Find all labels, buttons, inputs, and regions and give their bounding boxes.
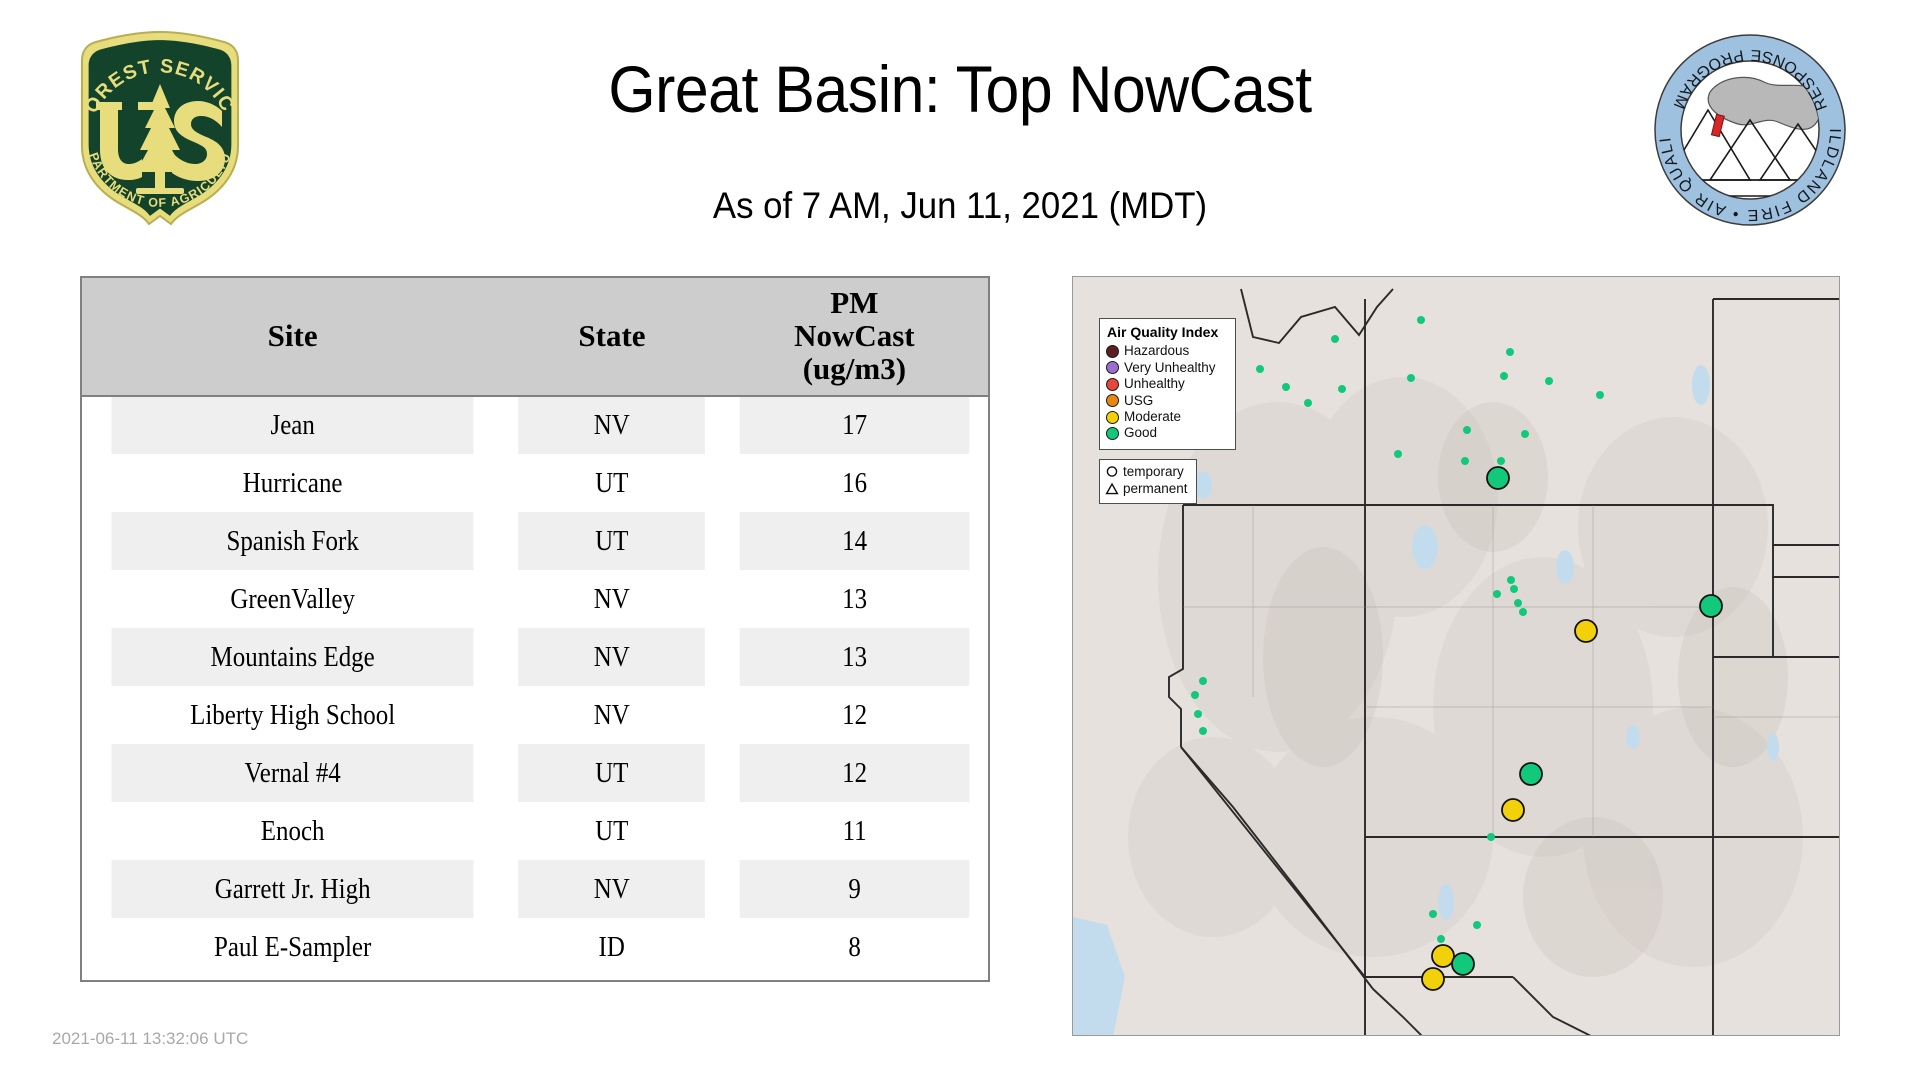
map-monitor-marker[interactable] <box>1497 457 1505 465</box>
state-cell: UT <box>519 802 706 860</box>
table-row: Paul E-SamplerID8 <box>82 918 988 976</box>
column-header-site: Site <box>82 278 503 396</box>
map-monitor-marker[interactable] <box>1500 372 1508 380</box>
site-cell: Garrett Jr. High <box>111 860 473 918</box>
column-header-site-label: Site <box>268 318 318 353</box>
map-monitor-marker[interactable] <box>1519 608 1527 616</box>
temporary-circle-icon <box>1105 465 1119 479</box>
map-monitor-marker[interactable] <box>1432 945 1454 967</box>
map-monitor-marker[interactable] <box>1191 691 1199 699</box>
map-monitor-marker[interactable] <box>1304 399 1312 407</box>
aqi-legend-row: USG <box>1106 393 1229 409</box>
state-cell: NV <box>519 628 706 686</box>
state-cell: NV <box>519 860 706 918</box>
column-header-pm-line1: PM <box>830 285 878 320</box>
table-row: Spanish ForkUT14 <box>82 512 988 570</box>
symbol-legend-label-temporary: temporary <box>1123 464 1184 481</box>
aqi-legend-swatch <box>1106 361 1119 374</box>
site-cell: GreenValley <box>111 570 473 628</box>
aqi-legend-row: Very Unhealthy <box>1106 360 1229 376</box>
map-monitor-marker[interactable] <box>1452 953 1474 975</box>
symbol-legend: temporary permanent <box>1099 459 1197 504</box>
pm-cell: 16 <box>739 454 969 512</box>
aqi-legend-swatch <box>1106 394 1119 407</box>
aqi-legend-label: Unhealthy <box>1124 376 1185 392</box>
page-subtitle: As of 7 AM, Jun 11, 2021 (MDT) <box>340 185 1581 227</box>
aqi-legend-label: Hazardous <box>1124 343 1189 359</box>
aqi-legend-swatch <box>1106 411 1119 424</box>
map-monitor-marker[interactable] <box>1510 585 1518 593</box>
site-cell: Spanish Fork <box>111 512 473 570</box>
aqi-legend: Air Quality Index HazardousVery Unhealth… <box>1099 318 1236 450</box>
column-header-pm-line2: NowCast <box>794 318 915 353</box>
column-header-state: State <box>503 278 720 396</box>
map-monitor-marker[interactable] <box>1429 910 1437 918</box>
map-monitor-marker[interactable] <box>1473 921 1481 929</box>
aqi-legend-label: Good <box>1124 425 1157 441</box>
state-cell: ID <box>519 918 706 976</box>
map-monitor-marker[interactable] <box>1514 599 1522 607</box>
site-cell: Hurricane <box>111 454 473 512</box>
permanent-triangle-icon <box>1105 482 1119 496</box>
map-monitor-marker[interactable] <box>1194 710 1202 718</box>
state-cell: NV <box>519 396 706 454</box>
state-cell: UT <box>519 512 706 570</box>
pm-cell: 13 <box>739 628 969 686</box>
map-monitor-marker[interactable] <box>1331 335 1339 343</box>
aqi-legend-swatch <box>1106 378 1119 391</box>
map-monitor-marker[interactable] <box>1545 377 1553 385</box>
aqi-legend-label: Very Unhealthy <box>1124 360 1216 376</box>
map-monitor-marker[interactable] <box>1463 426 1471 434</box>
site-cell: Vernal #4 <box>111 744 473 802</box>
map-monitor-marker[interactable] <box>1199 677 1207 685</box>
map-monitor-marker[interactable] <box>1493 590 1501 598</box>
map-monitor-marker[interactable] <box>1394 450 1402 458</box>
state-cell: UT <box>519 744 706 802</box>
table-row: JeanNV17 <box>82 396 988 454</box>
map-monitor-marker[interactable] <box>1417 316 1425 324</box>
map-monitor-marker[interactable] <box>1437 935 1445 943</box>
map-monitor-marker[interactable] <box>1507 576 1515 584</box>
symbol-legend-row-temporary: temporary <box>1105 464 1191 481</box>
map-monitor-marker[interactable] <box>1596 391 1604 399</box>
state-cell: NV <box>519 570 706 628</box>
map-monitor-marker[interactable] <box>1256 365 1264 373</box>
map-monitor-marker[interactable] <box>1487 833 1495 841</box>
pm-cell: 12 <box>739 686 969 744</box>
table-header: Site State PM NowCast (ug/m3) <box>82 278 988 396</box>
map-monitor-marker[interactable] <box>1407 374 1415 382</box>
site-cell: Enoch <box>111 802 473 860</box>
table-row: Liberty High SchoolNV12 <box>82 686 988 744</box>
aqi-legend-label: Moderate <box>1124 409 1181 425</box>
generated-timestamp: 2021-06-11 13:32:06 UTC <box>52 1029 248 1049</box>
map-monitor-marker[interactable] <box>1487 467 1509 489</box>
column-header-state-label: State <box>578 318 645 353</box>
table-header-row: Site State PM NowCast (ug/m3) <box>82 278 988 396</box>
aqi-legend-swatch <box>1106 427 1119 440</box>
map-monitor-marker[interactable] <box>1199 727 1207 735</box>
table-row: GreenValleyNV13 <box>82 570 988 628</box>
map-monitor-marker[interactable] <box>1338 385 1346 393</box>
symbol-legend-row-permanent: permanent <box>1105 481 1191 498</box>
aqi-legend-row: Unhealthy <box>1106 376 1229 392</box>
state-cell: UT <box>519 454 706 512</box>
site-cell: Mountains Edge <box>111 628 473 686</box>
table-row: HurricaneUT16 <box>82 454 988 512</box>
map-monitor-marker[interactable] <box>1521 430 1529 438</box>
aqi-legend-title: Air Quality Index <box>1107 324 1229 340</box>
column-header-pm-nowcast: PM NowCast (ug/m3) <box>721 278 988 396</box>
site-cell: Paul E-Sampler <box>111 918 473 976</box>
site-cell: Liberty High School <box>111 686 473 744</box>
page-title: Great Basin: Top NowCast <box>353 56 1567 122</box>
map-monitor-marker[interactable] <box>1520 763 1542 785</box>
pm-cell: 13 <box>739 570 969 628</box>
aqi-legend-row: Moderate <box>1106 409 1229 425</box>
site-cell: Jean <box>111 396 473 454</box>
wfaqrp-seal-logo: WILDLAND FIRE • AIR QUALITY RESPONSE PRO… <box>1652 32 1848 228</box>
nowcast-table: Site State PM NowCast (ug/m3) JeanNV17Hu… <box>82 278 988 976</box>
nowcast-table-container: Site State PM NowCast (ug/m3) JeanNV17Hu… <box>80 276 990 982</box>
pm-cell: 12 <box>739 744 969 802</box>
state-cell: NV <box>519 686 706 744</box>
aqi-legend-rows: HazardousVery UnhealthyUnhealthyUSGModer… <box>1106 343 1229 442</box>
aqi-legend-swatch <box>1106 345 1119 358</box>
pm-cell: 14 <box>739 512 969 570</box>
map-monitor-marker[interactable] <box>1461 457 1469 465</box>
table-row: EnochUT11 <box>82 802 988 860</box>
table-row: Mountains EdgeNV13 <box>82 628 988 686</box>
aqi-legend-label: USG <box>1124 393 1153 409</box>
map-monitor-marker[interactable] <box>1700 595 1722 617</box>
map-monitor-marker[interactable] <box>1422 968 1444 990</box>
map-monitor-marker[interactable] <box>1575 620 1597 642</box>
pm-cell: 8 <box>739 918 969 976</box>
map-monitor-marker[interactable] <box>1502 799 1524 821</box>
pm-cell: 11 <box>739 802 969 860</box>
aqi-legend-row: Good <box>1106 425 1229 441</box>
aqi-map-panel[interactable]: Air Quality Index HazardousVery Unhealth… <box>1072 276 1840 1036</box>
column-header-pm-line3: (ug/m3) <box>803 351 906 386</box>
table-row: Garrett Jr. HighNV9 <box>82 860 988 918</box>
table-body: JeanNV17HurricaneUT16Spanish ForkUT14Gre… <box>82 396 988 976</box>
symbol-legend-label-permanent: permanent <box>1123 481 1188 498</box>
pm-cell: 17 <box>739 396 969 454</box>
aqi-legend-row: Hazardous <box>1106 343 1229 359</box>
table-row: Vernal #4UT12 <box>82 744 988 802</box>
map-monitor-marker[interactable] <box>1282 383 1290 391</box>
map-monitor-marker[interactable] <box>1506 348 1514 356</box>
pm-cell: 9 <box>739 860 969 918</box>
usfs-shield-logo: FOREST SERVICE DEPARTMENT OF AGRICULTURE <box>52 28 268 228</box>
